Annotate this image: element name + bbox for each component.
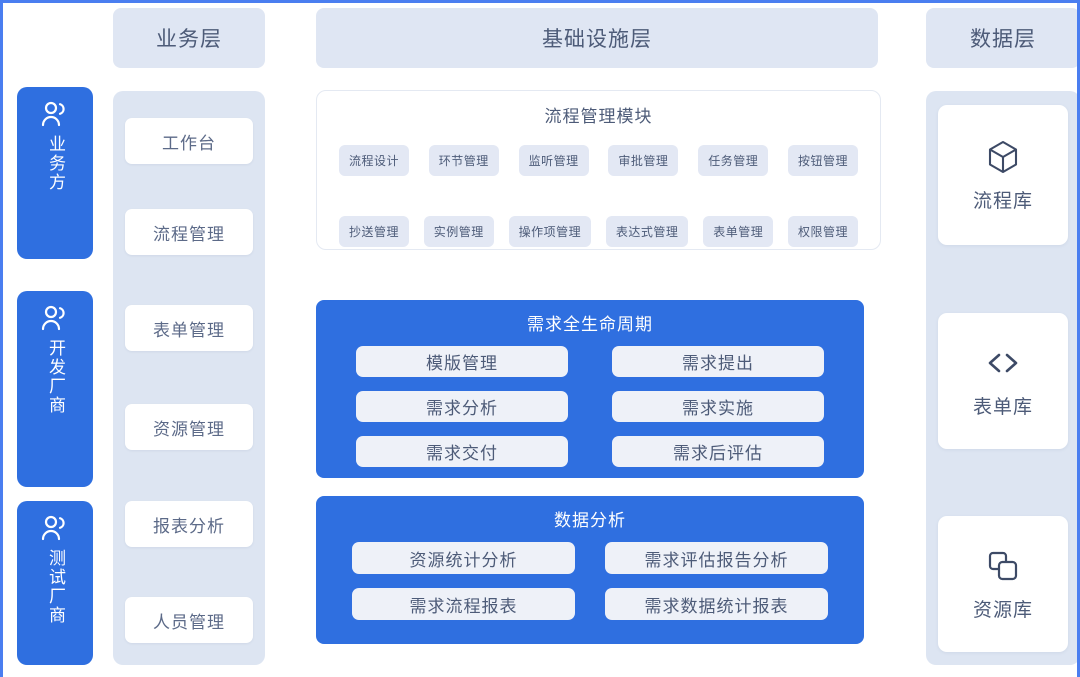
actor-card-1[interactable]: 开发厂商 bbox=[17, 291, 93, 487]
process-tag-row-1: 流程设计 环节管理 监听管理 审批管理 任务管理 按钮管理 bbox=[317, 145, 880, 176]
infrastructure-layer-header-label: 基础设施层 bbox=[542, 23, 652, 53]
lifecycle-panel-title: 需求全生命周期 bbox=[316, 310, 864, 335]
process-management-module: 流程管理模块 流程设计 环节管理 监听管理 审批管理 任务管理 按钮管理 抄送管… bbox=[316, 90, 881, 250]
business-item-label-1: 流程管理 bbox=[153, 220, 225, 245]
business-layer-header: 业务层 bbox=[113, 8, 265, 68]
architecture-diagram: 业务方 开发厂商 测试厂商 业务层 工作台 流程管理 表单管理 资源管理 报表分… bbox=[0, 0, 1080, 677]
analysis-chip-2[interactable]: 需求流程报表 bbox=[352, 588, 575, 620]
process-tag-4[interactable]: 任务管理 bbox=[698, 145, 768, 176]
business-item-label-3: 资源管理 bbox=[153, 415, 225, 440]
data-layer-header-label: 数据层 bbox=[970, 23, 1036, 53]
lifecycle-panel: 需求全生命周期 模版管理 需求提出 需求分析 需求实施 需求交付 需求后评估 bbox=[316, 300, 864, 478]
process-tag-11[interactable]: 权限管理 bbox=[788, 216, 858, 247]
lifecycle-chip-4[interactable]: 需求交付 bbox=[356, 436, 568, 467]
process-module-title: 流程管理模块 bbox=[317, 102, 880, 127]
analysis-chip-3[interactable]: 需求数据统计报表 bbox=[605, 588, 828, 620]
data-card-label-0: 流程库 bbox=[973, 186, 1033, 213]
business-item-label-2: 表单管理 bbox=[153, 316, 225, 341]
business-item-4[interactable]: 报表分析 bbox=[125, 501, 253, 547]
analysis-chip-0[interactable]: 资源统计分析 bbox=[352, 542, 575, 574]
data-card-2[interactable]: 资源库 bbox=[938, 516, 1068, 652]
business-item-5[interactable]: 人员管理 bbox=[125, 597, 253, 643]
data-card-1[interactable]: 表单库 bbox=[938, 313, 1068, 449]
process-tag-9[interactable]: 表达式管理 bbox=[606, 216, 689, 247]
actor-label-0: 业务方 bbox=[45, 135, 65, 192]
business-item-label-5: 人员管理 bbox=[153, 608, 225, 633]
business-layer-body bbox=[113, 91, 265, 665]
users-icon bbox=[40, 101, 70, 127]
data-layer-header: 数据层 bbox=[926, 8, 1080, 68]
process-tag-8[interactable]: 操作项管理 bbox=[509, 216, 592, 247]
analysis-chip-grid: 资源统计分析 需求评估报告分析 需求流程报表 需求数据统计报表 bbox=[316, 542, 864, 620]
lifecycle-chip-5[interactable]: 需求后评估 bbox=[612, 436, 824, 467]
process-tag-3[interactable]: 审批管理 bbox=[608, 145, 678, 176]
actor-card-0[interactable]: 业务方 bbox=[17, 87, 93, 259]
users-icon bbox=[40, 515, 70, 541]
process-tag-10[interactable]: 表单管理 bbox=[703, 216, 773, 247]
business-item-1[interactable]: 流程管理 bbox=[125, 209, 253, 255]
actor-card-2[interactable]: 测试厂商 bbox=[17, 501, 93, 665]
analysis-panel-title: 数据分析 bbox=[316, 506, 864, 531]
business-layer-header-label: 业务层 bbox=[156, 23, 222, 53]
infrastructure-layer-header: 基础设施层 bbox=[316, 8, 878, 68]
lifecycle-chip-2[interactable]: 需求分析 bbox=[356, 391, 568, 422]
cube-icon bbox=[984, 138, 1022, 176]
business-item-3[interactable]: 资源管理 bbox=[125, 404, 253, 450]
users-icon bbox=[40, 305, 70, 331]
lifecycle-chip-0[interactable]: 模版管理 bbox=[356, 346, 568, 377]
lifecycle-chip-1[interactable]: 需求提出 bbox=[612, 346, 824, 377]
process-tag-row-2: 抄送管理 实例管理 操作项管理 表达式管理 表单管理 权限管理 bbox=[317, 216, 880, 247]
data-card-label-1: 表单库 bbox=[973, 392, 1033, 419]
code-brackets-icon bbox=[984, 344, 1022, 382]
process-tag-6[interactable]: 抄送管理 bbox=[339, 216, 409, 247]
data-card-0[interactable]: 流程库 bbox=[938, 105, 1068, 245]
process-tag-0[interactable]: 流程设计 bbox=[339, 145, 409, 176]
analysis-chip-1[interactable]: 需求评估报告分析 bbox=[605, 542, 828, 574]
process-tag-2[interactable]: 监听管理 bbox=[519, 145, 589, 176]
actor-label-2: 测试厂商 bbox=[45, 549, 65, 625]
business-item-2[interactable]: 表单管理 bbox=[125, 305, 253, 351]
data-card-label-2: 资源库 bbox=[973, 595, 1033, 622]
analysis-panel: 数据分析 资源统计分析 需求评估报告分析 需求流程报表 需求数据统计报表 bbox=[316, 496, 864, 644]
process-tag-5[interactable]: 按钮管理 bbox=[788, 145, 858, 176]
business-item-0[interactable]: 工作台 bbox=[125, 118, 253, 164]
lifecycle-chip-3[interactable]: 需求实施 bbox=[612, 391, 824, 422]
process-tag-7[interactable]: 实例管理 bbox=[424, 216, 494, 247]
business-item-label-4: 报表分析 bbox=[153, 512, 225, 537]
process-tag-1[interactable]: 环节管理 bbox=[429, 145, 499, 176]
lifecycle-chip-grid: 模版管理 需求提出 需求分析 需求实施 需求交付 需求后评估 bbox=[316, 346, 864, 467]
business-item-label-0: 工作台 bbox=[162, 129, 216, 154]
actor-label-1: 开发厂商 bbox=[45, 339, 65, 415]
copy-layers-icon bbox=[984, 547, 1022, 585]
